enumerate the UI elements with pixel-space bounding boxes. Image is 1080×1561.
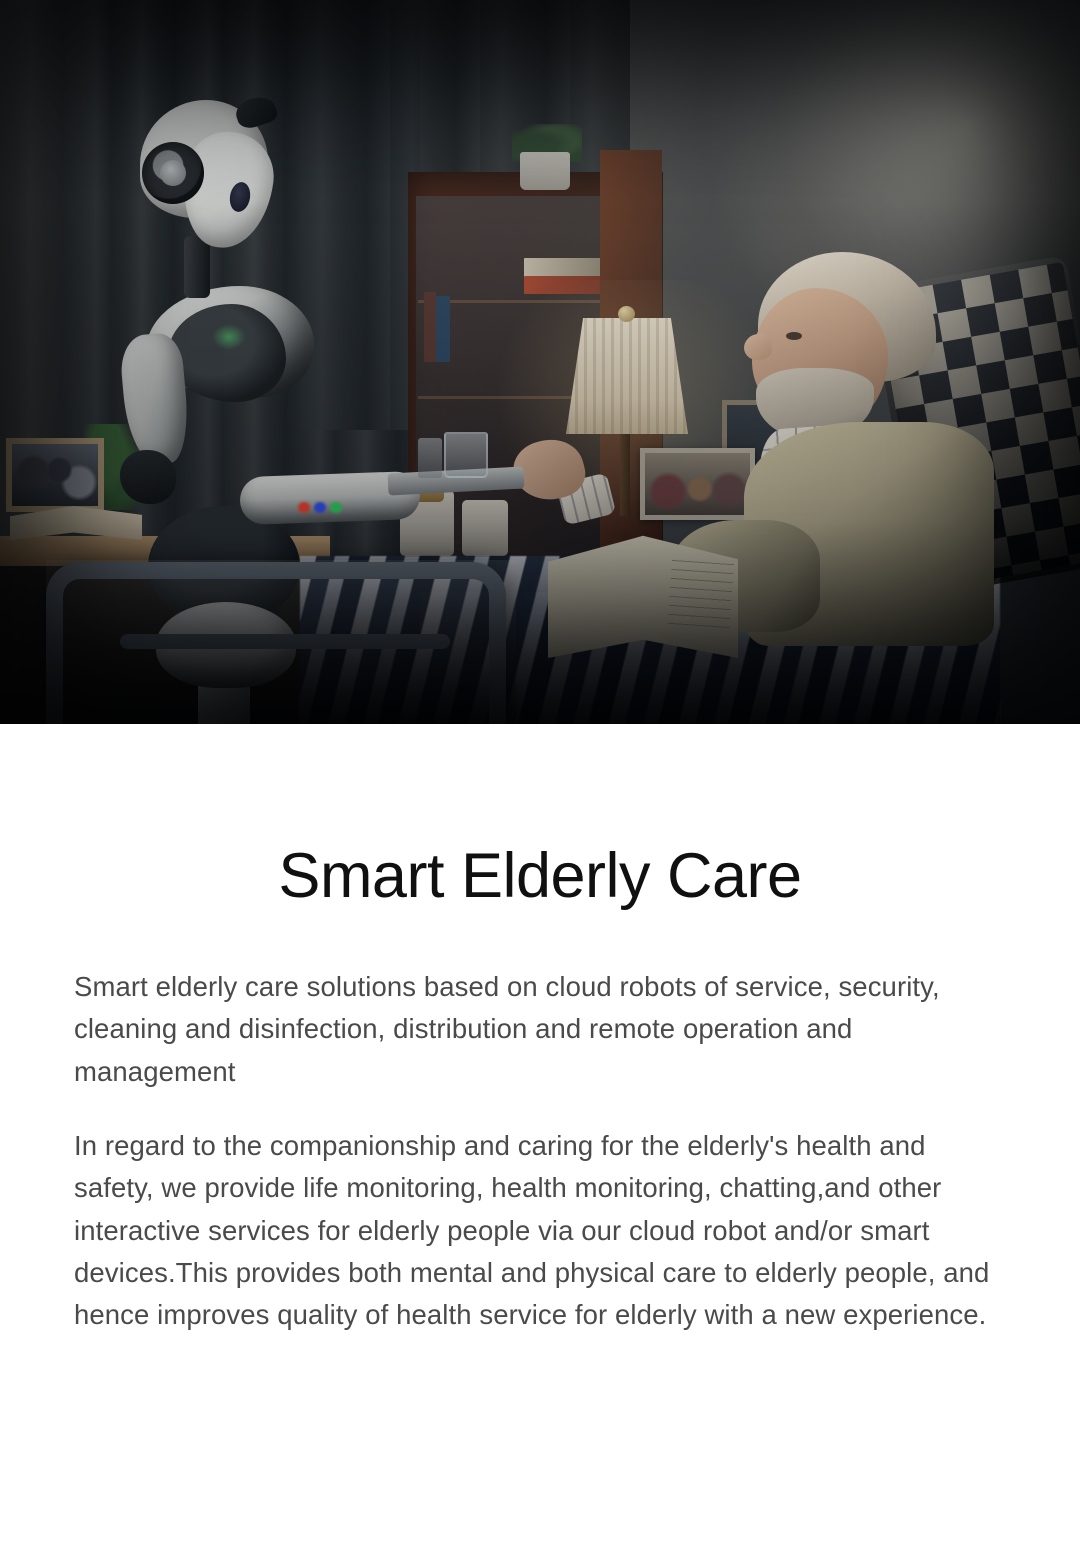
jar-container bbox=[462, 500, 508, 556]
shelf-book bbox=[436, 296, 450, 362]
lamp-finial bbox=[618, 306, 635, 322]
water-bottle bbox=[418, 438, 442, 478]
held-book-text-lines bbox=[668, 554, 735, 628]
bed-rail-crossbar bbox=[120, 634, 450, 649]
man-eye bbox=[786, 332, 802, 340]
led-blue-icon bbox=[314, 502, 326, 513]
led-red-icon bbox=[298, 502, 310, 513]
man-nose bbox=[744, 334, 772, 360]
led-green-icon bbox=[330, 502, 342, 513]
page-root: Smart Elderly Care Smart elderly care so… bbox=[0, 0, 1080, 1561]
lamp-shade bbox=[566, 318, 688, 434]
shelf-book bbox=[424, 292, 436, 362]
hero-scene bbox=[0, 0, 1080, 724]
robot-neck bbox=[184, 236, 210, 298]
desk-photo-frame bbox=[6, 438, 104, 512]
body-copy: Smart elderly care solutions based on cl… bbox=[0, 966, 1080, 1337]
lamp-stem bbox=[620, 430, 630, 516]
content-section: Smart Elderly Care Smart elderly care so… bbox=[0, 724, 1080, 1337]
robot-ear-core bbox=[160, 160, 186, 186]
desk-photo bbox=[12, 444, 98, 506]
hero-image bbox=[0, 0, 1080, 724]
paragraph-1: Smart elderly care solutions based on cl… bbox=[74, 966, 1006, 1093]
page-title: Smart Elderly Care bbox=[0, 840, 1080, 912]
elderly-man bbox=[700, 246, 1080, 646]
plant-pot bbox=[520, 152, 570, 190]
water-glass bbox=[444, 432, 488, 478]
robot-chest-indicator bbox=[212, 324, 246, 350]
paragraph-2: In regard to the companionship and carin… bbox=[74, 1125, 1006, 1337]
robot-elbow-joint bbox=[120, 450, 176, 504]
